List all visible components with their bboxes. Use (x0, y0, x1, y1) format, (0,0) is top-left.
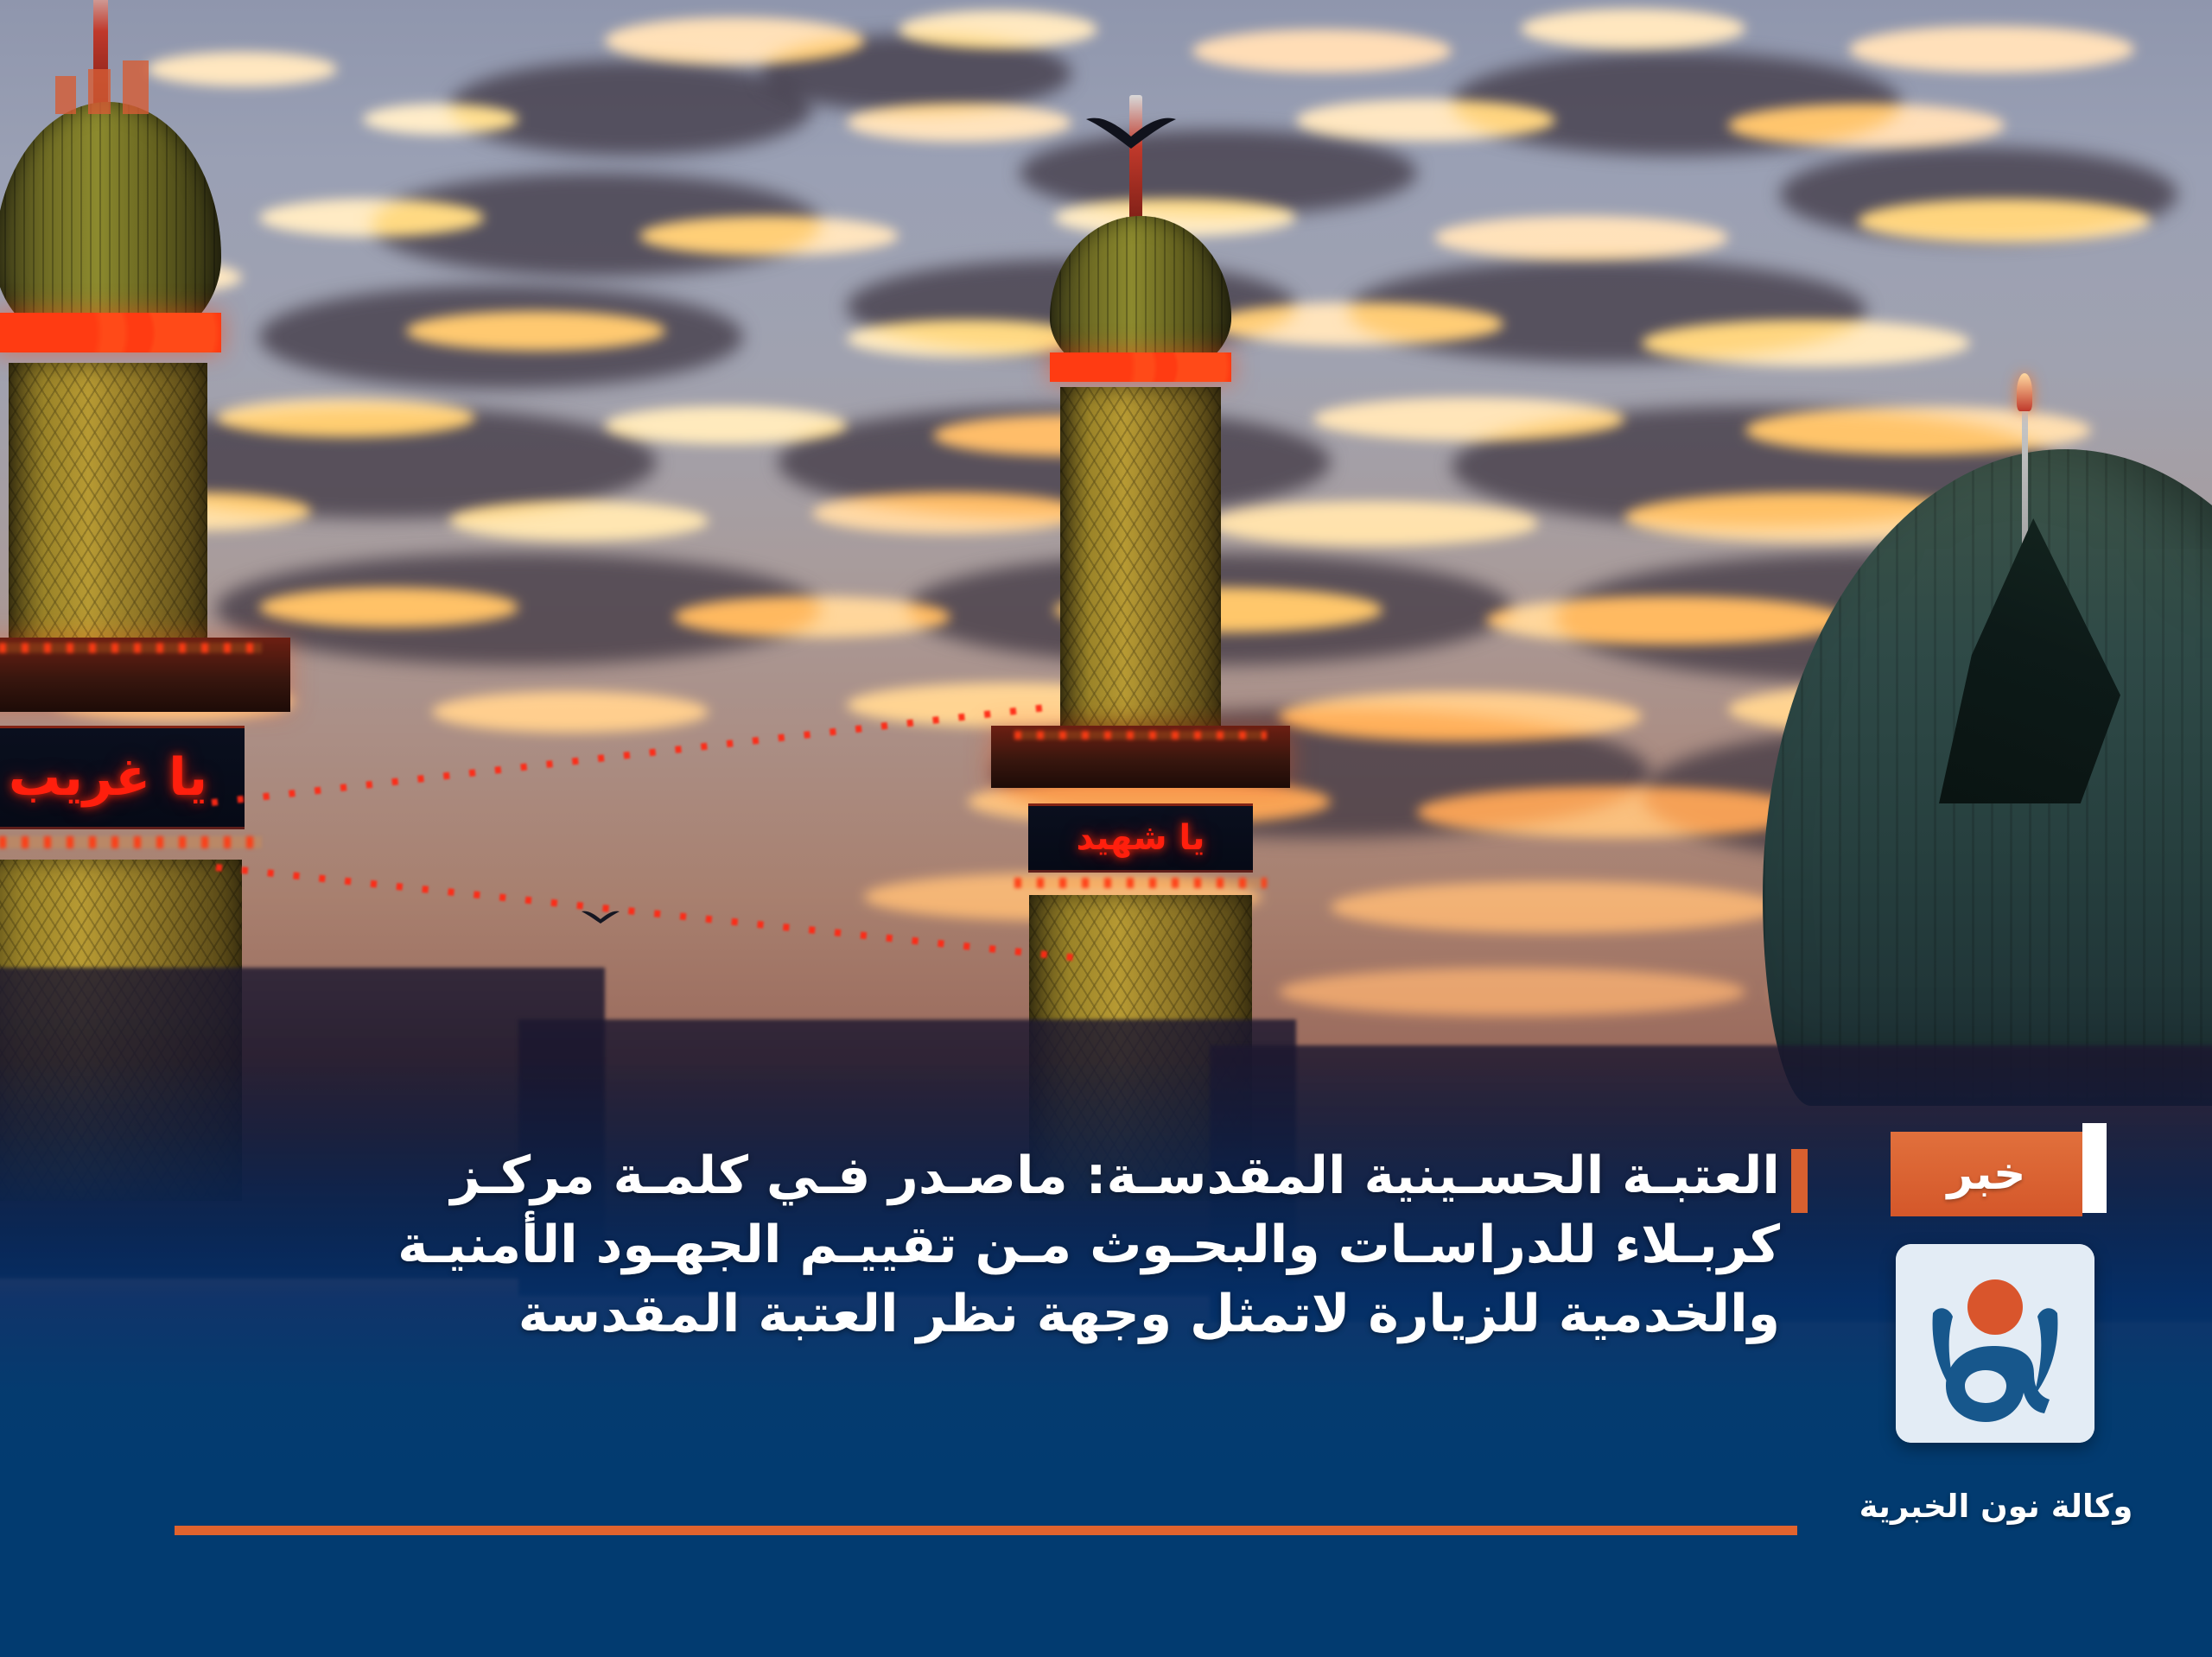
headline-underline-rule (175, 1526, 1797, 1535)
headline-line-2: كربـلاء للدراسـات والبحـوث مـن تقييـم ال… (104, 1211, 1780, 1280)
left-minaret-banner-text: يا غريب (9, 747, 207, 808)
noon-news-agency-logo[interactable] (1896, 1244, 2094, 1443)
news-badge[interactable]: خبر (1891, 1132, 2082, 1216)
center-minaret-banner: يا شهيد (1028, 803, 1252, 873)
news-badge-cap (2082, 1123, 2107, 1213)
headline-accent-tick (1791, 1149, 1808, 1213)
headline-block: العتبـة الحسـينية المقدسـة: ماصـدر فـي ك… (104, 1142, 1780, 1349)
center-minaret-banner-text: يا شهيد (1076, 818, 1205, 858)
watermark-bar-3 (55, 76, 76, 114)
bird-icon-large (1084, 112, 1179, 150)
bird-icon-small (581, 909, 620, 924)
news-badge-label: خبر (1947, 1152, 2025, 1197)
three-bars-watermark-icon (55, 60, 149, 114)
agency-name: وكالة نون الخبرية (1849, 1488, 2143, 1525)
left-minaret-banner: يا غريب (0, 726, 245, 829)
news-card: يا غريب يا شهيد (0, 0, 2212, 1657)
headline-line-1: العتبـة الحسـينية المقدسـة: ماصـدر فـي ك… (104, 1142, 1780, 1211)
dome-flag-finial (2017, 373, 2032, 411)
headline-line-3: والخدمية للزيارة لاتمثل وجهة نظر العتبة … (104, 1280, 1780, 1349)
watermark-bar-1 (123, 60, 149, 114)
logo-mark (1896, 1244, 2094, 1443)
watermark-bar-2 (88, 69, 111, 114)
